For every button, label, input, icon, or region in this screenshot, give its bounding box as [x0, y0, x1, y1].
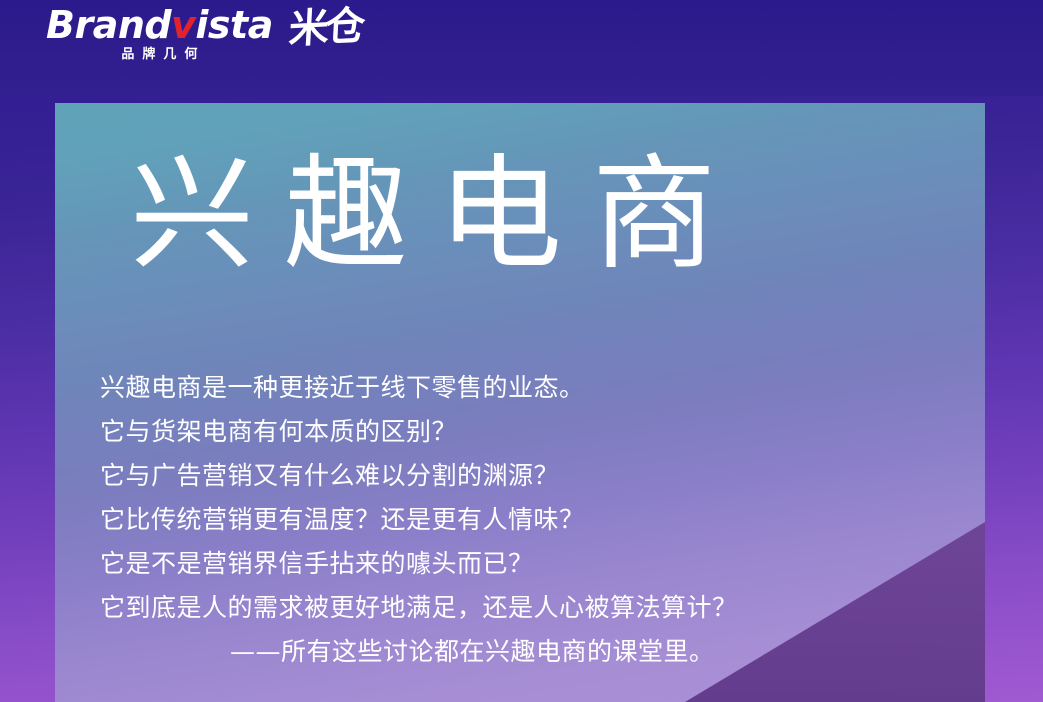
brand-name-part1: Brand [46, 3, 171, 47]
brand-name-accent-v: v [171, 3, 195, 47]
attribution-line: ——所有这些讨论都在兴趣电商的课堂里。 [100, 630, 910, 674]
logo-group: Brandvista 品牌几何 米仓 [46, 6, 361, 62]
copy-line: 它与货架电商有何本质的区别？ [100, 410, 910, 454]
body-copy: 兴趣电商是一种更接近于线下零售的业态。 它与货架电商有何本质的区别？ 它与广告营… [100, 366, 910, 674]
brand-wordmark: Brandvista [46, 6, 273, 46]
copy-line: 它是不是营销界信手拈来的噱头而已？ [100, 542, 910, 586]
copy-line: 它与广告营销又有什么难以分割的渊源？ [100, 454, 910, 498]
presentation-slide: Brandvista 品牌几何 米仓 兴趣电商 兴趣电商是一种更接近于线下零售的… [0, 0, 1043, 702]
brand-name-part2: ista [195, 3, 272, 47]
copy-line: 它到底是人的需求被更好地满足，还是人心被算法算计？ [100, 586, 910, 630]
copy-line: 它比传统营销更有温度？还是更有人情味？ [100, 498, 910, 542]
copy-line: 兴趣电商是一种更接近于线下零售的业态。 [100, 366, 910, 410]
page-title: 兴趣电商 [130, 136, 920, 295]
header-band: Brandvista 品牌几何 米仓 [0, 0, 1043, 96]
micang-seal-logo: 米仓 [288, 6, 362, 50]
brandvista-logo: Brandvista 品牌几何 [46, 6, 273, 62]
brand-subtitle: 品牌几何 [113, 43, 205, 62]
